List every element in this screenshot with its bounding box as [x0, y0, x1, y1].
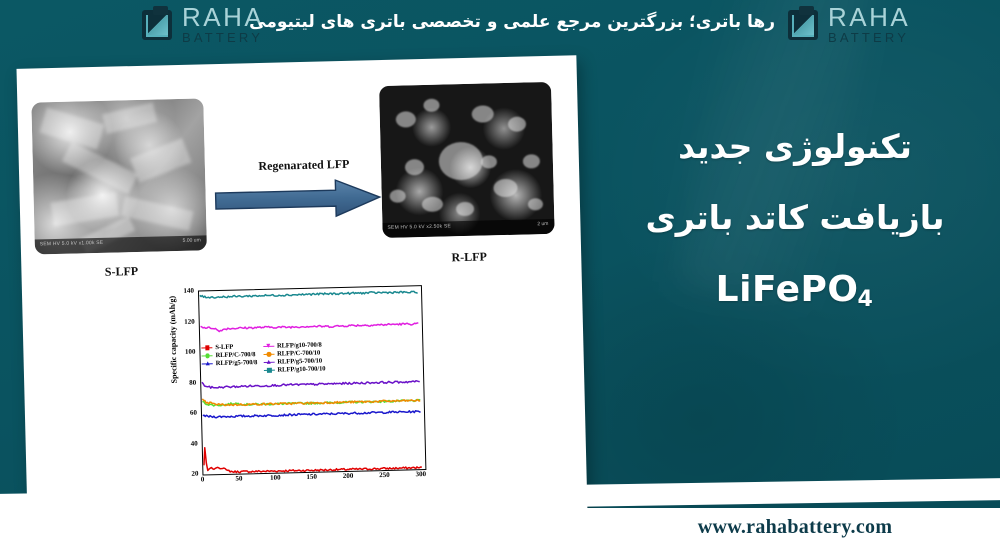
- chart-y-tick: 140: [160, 287, 194, 296]
- legend-label: S-LFP: [215, 344, 233, 351]
- sem-right-scalebar-text: SEM HV 5.0 kV x2.50k SE: [387, 223, 451, 231]
- hero-line-2: بازیافت کاتد باتری: [600, 201, 990, 236]
- cycling-performance-chart: Specific capacity (mAh/g) 20406080100120…: [154, 277, 441, 512]
- legend-label: RLFP/C-700/8: [215, 351, 255, 359]
- sem-left-caption: S-LFP: [61, 263, 181, 281]
- legend-swatch-icon: [202, 361, 213, 367]
- figure-card: SEM HV 5.0 kV x1.00k SE 5.00 um S-LFP Re…: [16, 55, 587, 527]
- chart-series-s-lfp: [204, 442, 422, 473]
- chart-series-rlfp-g10-700-10: [200, 290, 418, 299]
- sem-image-s-lfp: SEM HV 5.0 kV x1.00k SE 5.00 um: [31, 98, 207, 254]
- chart-x-tick: 200: [343, 472, 354, 480]
- chart-series-svg: [199, 286, 425, 474]
- sem-left-scalebar-value: 5.00 um: [183, 237, 201, 243]
- chart-x-tick: 250: [379, 471, 390, 479]
- hero-line-3-formula: LiFePO4: [600, 271, 990, 309]
- arrow-label: Regenarated LFP: [229, 156, 379, 175]
- chart-y-tick: 20: [164, 470, 198, 479]
- regeneration-arrow: Regenarated LFP: [213, 156, 385, 230]
- hero-formula-subscript: 4: [858, 287, 874, 312]
- legend-label: RLFP/g10-700/8: [277, 342, 322, 350]
- logo-right-secondary: BATTERY: [828, 31, 910, 44]
- chart-legend-column-1: S-LFPRLFP/C-700/8RLFP/g5-700/8: [201, 343, 257, 375]
- chart-x-tick: 150: [306, 473, 317, 481]
- legend-label: RLFP/C-700/10: [277, 350, 320, 358]
- header-tagline: رها باتری؛ بزرگترین مرجع علمی و تخصصی با…: [255, 12, 775, 32]
- logo-left[interactable]: RAHA BATTERY: [140, 4, 264, 44]
- sem-right-scalebar: SEM HV 5.0 kV x2.50k SE 2 um: [382, 219, 554, 238]
- legend-swatch-icon: [201, 345, 212, 351]
- hero-text-block: تکنولوژی جدید بازیافت کاتد باتری LiFePO4: [600, 130, 990, 309]
- logo-left-secondary: BATTERY: [182, 31, 264, 44]
- chart-x-tick: 100: [270, 474, 281, 482]
- chart-series-rlfp-g5-700-8: [203, 410, 421, 418]
- chart-legend: S-LFPRLFP/C-700/8RLFP/g5-700/8RLFP/g10-7…: [201, 340, 378, 375]
- legend-label: RLFP/g5-700/10: [277, 358, 322, 366]
- raha-battery-logo-icon: [786, 6, 822, 42]
- chart-y-tick: 100: [161, 348, 195, 357]
- chart-series-rlfp-g5-700-10: [202, 377, 420, 389]
- chart-y-tick: 40: [164, 439, 198, 448]
- site-url[interactable]: www.rahabattery.com: [600, 516, 990, 539]
- chart-legend-item[interactable]: S-LFP: [201, 343, 257, 351]
- arrow-icon: [213, 178, 384, 222]
- sem-image-r-lfp: SEM HV 5.0 kV x2.50k SE 2 um: [379, 82, 555, 238]
- hero-line-1: تکنولوژی جدید: [600, 130, 990, 165]
- chart-series-rlfp-g10-700-8: [201, 321, 419, 332]
- chart-x-tick: 50: [235, 475, 242, 483]
- sem-left-scalebar: SEM HV 5.0 kV x1.00k SE 5.00 um: [35, 235, 207, 254]
- chart-x-tick: 0: [201, 475, 205, 483]
- chart-legend-item[interactable]: RLFP/C-700/8: [201, 351, 257, 359]
- legend-label: RLFP/g10-700/10: [277, 365, 325, 373]
- chart-legend-item[interactable]: RLFP/g10-700/10: [263, 365, 325, 374]
- legend-swatch-icon: [263, 367, 274, 373]
- sem-right-scalebar-value: 2 um: [537, 221, 548, 227]
- sem-right-caption: R-LFP: [409, 248, 529, 266]
- sem-left-scalebar-text: SEM HV 5.0 kV x1.00k SE: [40, 240, 104, 248]
- legend-swatch-icon: [263, 359, 274, 365]
- chart-y-axis-ticks: 20406080100120140: [154, 283, 199, 483]
- legend-label: RLFP/g5-700/8: [216, 359, 258, 367]
- legend-swatch-icon: [263, 351, 274, 357]
- header-bar: RAHA BATTERY RAHA BATTERY رها باتری؛ بزر…: [0, 0, 1000, 52]
- legend-swatch-icon: [201, 353, 212, 359]
- hero-formula-text: LiFePO: [716, 269, 859, 310]
- chart-y-tick: 80: [162, 378, 196, 387]
- chart-legend-column-2: RLFP/g10-700/8RLFP/C-700/10RLFP/g5-700/1…: [263, 341, 326, 374]
- legend-swatch-icon: [263, 343, 274, 349]
- logo-right[interactable]: RAHA BATTERY: [786, 4, 910, 44]
- chart-y-tick: 120: [161, 317, 195, 326]
- chart-plot-area: [198, 285, 426, 475]
- logo-right-primary: RAHA: [828, 4, 910, 30]
- chart-x-tick: 300: [416, 470, 427, 478]
- chart-y-tick: 60: [163, 409, 197, 418]
- chart-legend-item[interactable]: RLFP/g5-700/8: [202, 359, 258, 367]
- logo-right-wordmark: RAHA BATTERY: [828, 4, 910, 44]
- raha-battery-logo-icon: [140, 6, 176, 42]
